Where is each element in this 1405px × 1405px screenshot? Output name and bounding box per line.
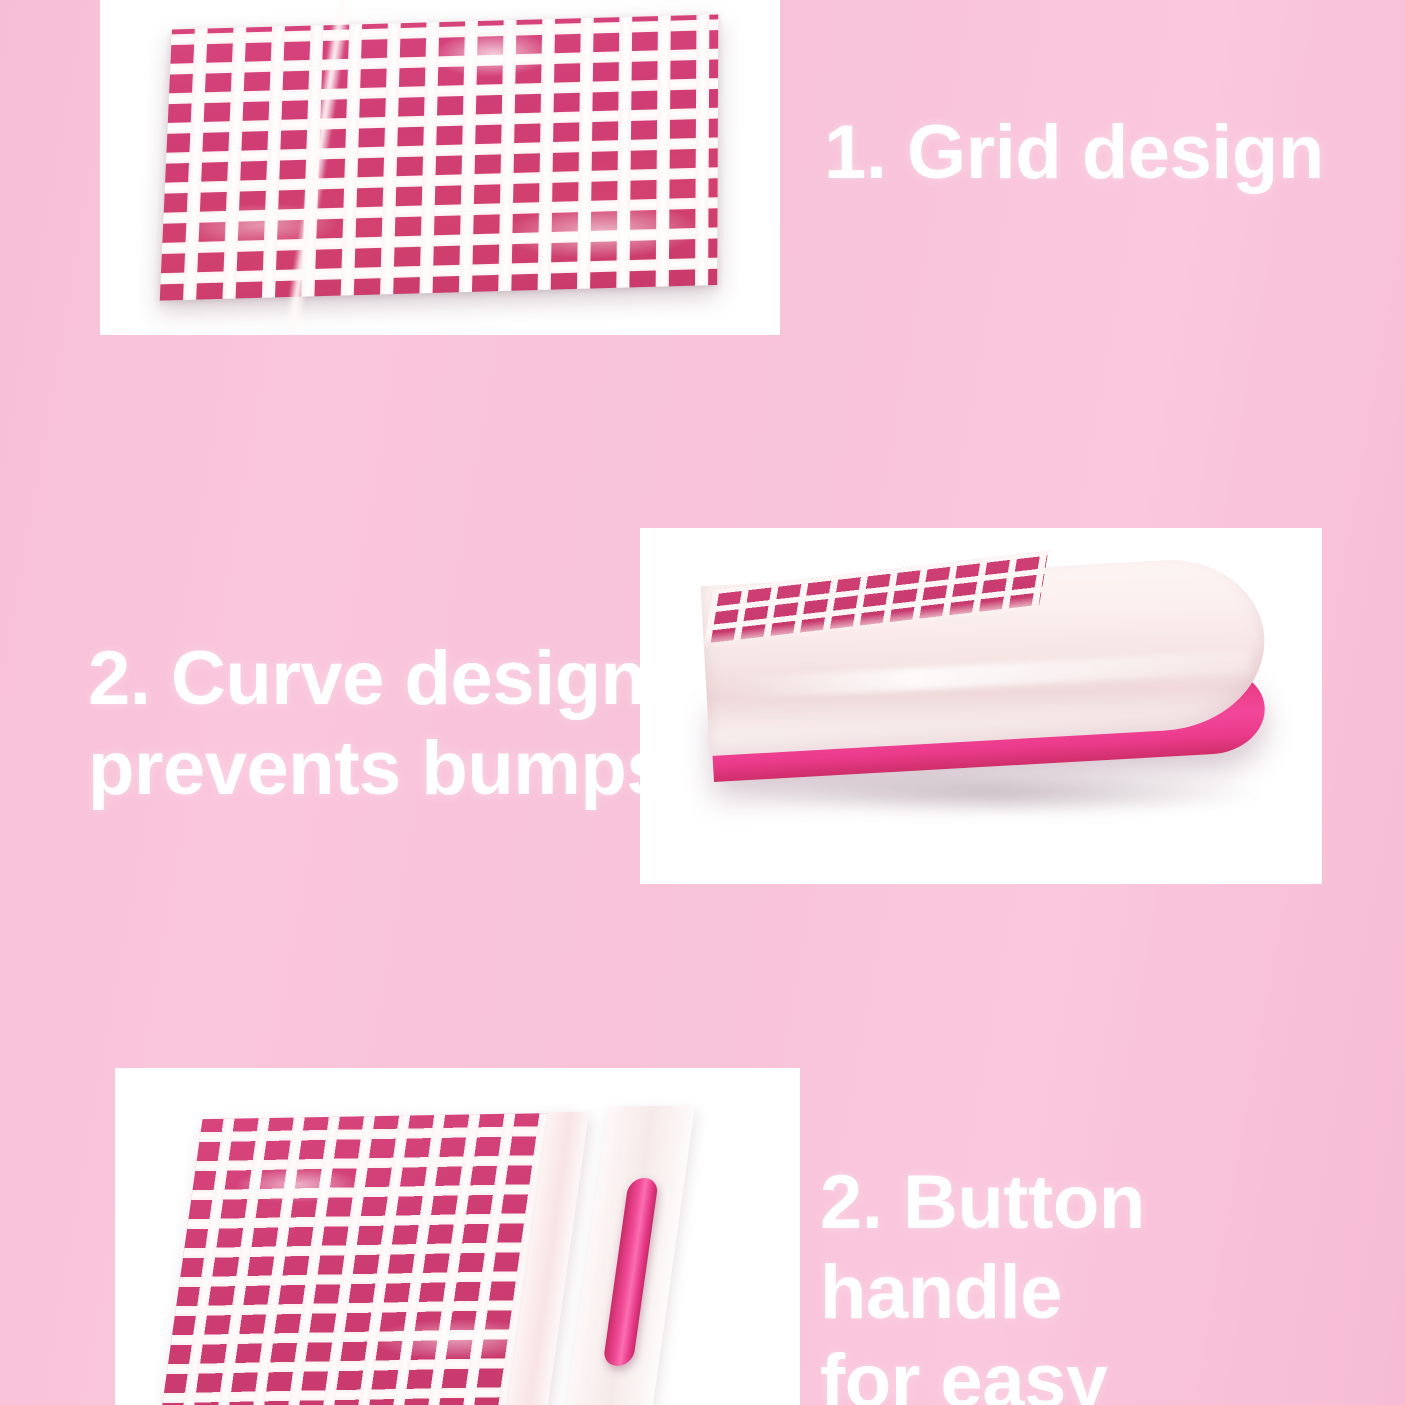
feature-card-button-handle <box>115 1068 800 1405</box>
tray-corner-assembly <box>710 586 1270 811</box>
handle-panel-assembly <box>197 1106 717 1405</box>
grid-mat-photo <box>100 0 780 335</box>
feature-card-grid-design <box>100 0 780 335</box>
tray-deck-grid-mesh <box>703 551 1049 650</box>
handle-panel-highlight-a <box>234 1168 359 1202</box>
feature-caption-grid-design: 1. Grid design <box>824 108 1324 198</box>
grid-mat-seam <box>282 0 352 335</box>
handle-panel-grid-surface <box>160 1113 563 1405</box>
feature-card-curve-design <box>640 528 1322 884</box>
grid-mat-highlight-b <box>506 203 698 261</box>
handle-panel-photo <box>115 1068 800 1405</box>
feature-caption-curve-design: 2. Curve design prevents bumps <box>88 634 668 813</box>
grid-mat-surface <box>160 14 719 300</box>
curved-corner-photo <box>640 528 1322 884</box>
feature-caption-button-handle: 2. Button handle for easy cleaning <box>820 1158 1405 1405</box>
grid-mat-highlight-c <box>184 202 336 246</box>
grid-mat-perspective-wrap <box>166 20 718 292</box>
product-feature-infographic: 1. Grid design 2. Curve design prevents … <box>0 0 1405 1405</box>
grid-mat-highlight-a <box>433 30 553 78</box>
tray-corner-contact-shadow <box>740 774 1260 814</box>
